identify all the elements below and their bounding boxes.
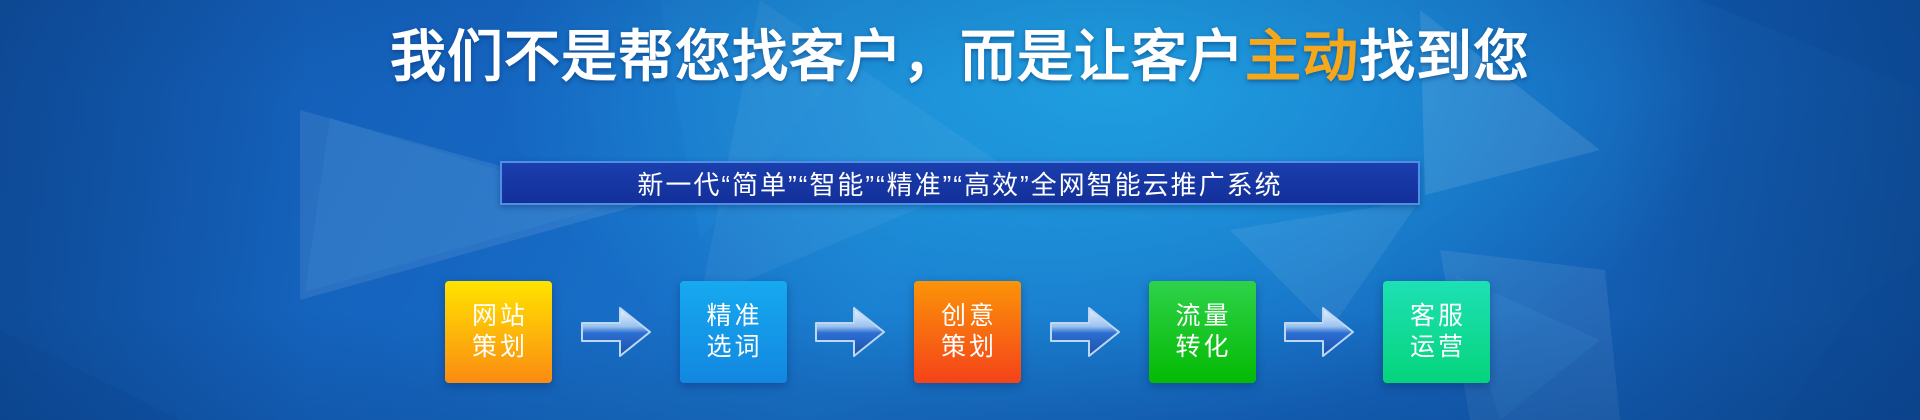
subtitle-text: 新一代“简单”“智能”“精准”“高效”全网智能云推广系统 <box>637 165 1282 202</box>
flow-step-label-line2: 策划 <box>469 332 528 363</box>
process-flow: 网站 策划 精准 选词 创意 策划 <box>445 281 1490 383</box>
flow-step-label-line2: 策划 <box>938 332 997 363</box>
flow-step-label-line1: 流量 <box>1172 301 1231 332</box>
headline-text-after: 找到您 <box>1359 25 1530 88</box>
headline-text-before: 我们不是帮您找客户，而是让客户 <box>390 25 1245 88</box>
flow-step-keyword-selection[interactable]: 精准 选词 <box>680 281 787 383</box>
flow-step-label-line2: 转化 <box>1172 332 1231 363</box>
flow-step-traffic-conversion[interactable]: 流量 转化 <box>1149 281 1256 383</box>
flow-step-website-planning[interactable]: 网站 策划 <box>445 281 552 383</box>
flow-step-label-line1: 创意 <box>938 301 997 332</box>
flow-step-creative-planning[interactable]: 创意 策划 <box>914 281 1021 383</box>
arrow-right-icon <box>1283 303 1355 361</box>
flow-step-label-line2: 运营 <box>1407 332 1466 363</box>
arrow-right-icon <box>814 303 886 361</box>
flow-step-customer-service[interactable]: 客服 运营 <box>1383 281 1490 383</box>
arrow-right-icon <box>1049 303 1121 361</box>
headline: 我们不是帮您找客户，而是让客户主动找到您 <box>0 22 1920 92</box>
promo-banner: 我们不是帮您找客户，而是让客户主动找到您 新一代“简单”“智能”“精准”“高效”… <box>0 0 1920 420</box>
flow-step-label-line2: 选词 <box>703 332 762 363</box>
flow-step-label-line1: 精准 <box>703 301 762 332</box>
flow-step-label-line1: 网站 <box>469 301 528 332</box>
flow-step-label-line1: 客服 <box>1407 301 1466 332</box>
headline-accent-text: 主动 <box>1245 25 1359 88</box>
arrow-right-icon <box>580 303 652 361</box>
subtitle-bar: 新一代“简单”“智能”“精准”“高效”全网智能云推广系统 <box>500 161 1420 205</box>
